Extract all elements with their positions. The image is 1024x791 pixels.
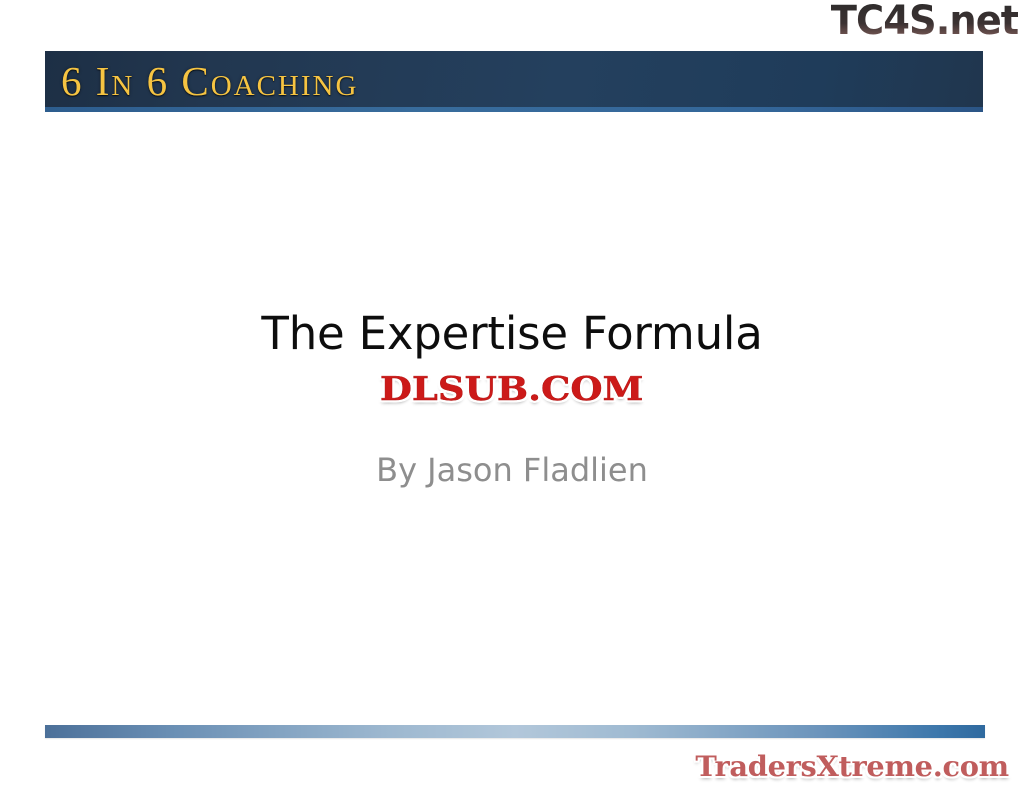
slide-header-banner: 6 In 6 Coaching (45, 51, 983, 112)
presentation-slide: TC4S.net 6 In 6 Coaching The Expertise F… (0, 0, 1024, 791)
watermark-tradersxtreme-text: TradersXtreme.com (695, 750, 1008, 783)
banner-title: 6 In 6 Coaching (61, 57, 358, 105)
watermark-dlsub-text: DLSUB.COM (380, 369, 644, 408)
page-title: The Expertise Formula (0, 305, 1024, 363)
footer-decorative-bar (45, 725, 985, 738)
slide-subtitle-author: By Jason Fladlien (0, 449, 1024, 491)
watermark-tc4s: TC4S.net (831, 0, 1018, 44)
watermark-tradersxtreme: TradersXtreme.com (700, 750, 1004, 783)
watermark-dlsub: DLSUB.COM (0, 369, 1024, 408)
title-block: The Expertise Formula (0, 305, 1024, 363)
